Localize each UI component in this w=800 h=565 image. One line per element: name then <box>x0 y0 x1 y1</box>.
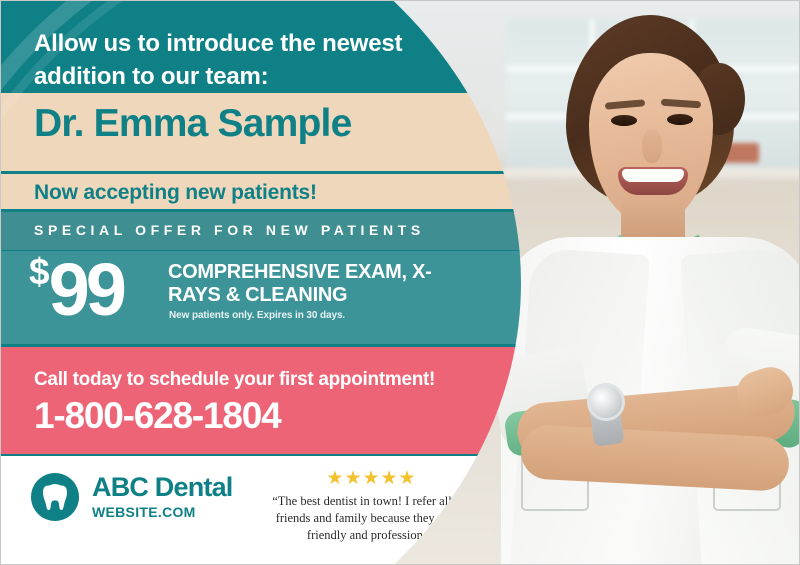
eye-right <box>667 114 693 125</box>
smile <box>618 167 688 195</box>
tooth-icon <box>31 473 79 521</box>
offer-fine-print: New patients only. Expires in 30 days. <box>169 310 345 321</box>
divider-rule <box>1 209 561 212</box>
accepting-text: Now accepting new patients! <box>34 181 317 205</box>
divider-rule <box>1 344 561 347</box>
brand-logo[interactable]: ABC Dental WEBSITE.COM <box>31 473 233 521</box>
offer-description: COMPREHENSIVE EXAM, X-RAYS & CLEANING <box>168 261 438 307</box>
nose <box>642 129 662 163</box>
phone-number[interactable]: 1-800-628-1804 <box>34 395 281 437</box>
star-rating: ★★★★★ <box>259 469 484 488</box>
brand-text-block: ABC Dental WEBSITE.COM <box>92 474 233 520</box>
teeth <box>622 169 684 182</box>
price-amount: 99 <box>49 248 123 331</box>
headline-text: Allow us to introduce the newest additio… <box>34 27 434 93</box>
dental-postcard: Allow us to introduce the newest additio… <box>0 0 800 565</box>
call-to-action-text: Call today to schedule your first appoin… <box>34 369 435 391</box>
brand-website: WEBSITE.COM <box>92 504 233 520</box>
price-display: $99 <box>29 253 123 327</box>
doctor-name: Dr. Emma Sample <box>34 102 351 146</box>
special-offer-label: SPECIAL OFFER FOR NEW PATIENTS <box>34 222 425 238</box>
brand-name: ABC Dental <box>92 474 233 501</box>
eye-left <box>611 115 637 126</box>
currency-symbol: $ <box>29 251 49 292</box>
